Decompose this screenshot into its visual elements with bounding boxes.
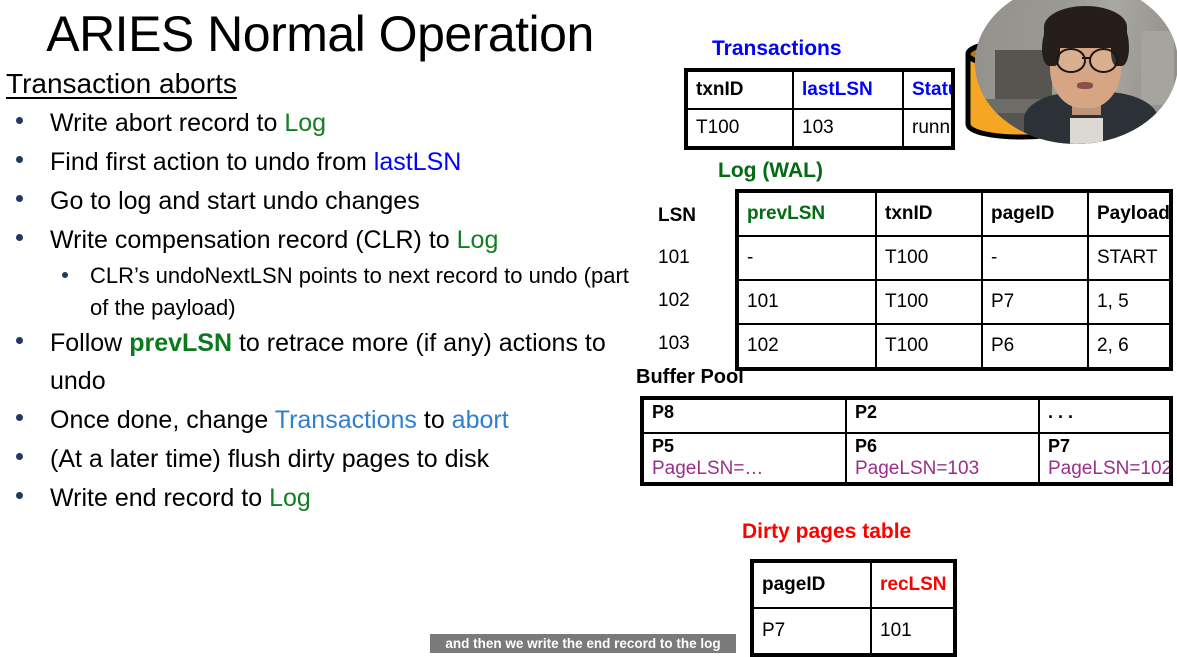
log-column-header: prevLSN <box>737 191 876 236</box>
bullet-dot-icon <box>16 195 23 202</box>
lsn-value: 101 <box>658 236 728 279</box>
log-header-row: prevLSNtxnIDpageIDPayload <box>737 191 1171 236</box>
buffer-pool-table: P8P2. . .P5PageLSN=…P6PageLSN=103P7PageL… <box>640 396 1173 486</box>
bullet-text-run: Write end record to <box>50 484 269 512</box>
bullet-dot-icon <box>16 492 23 499</box>
buffer-pool-page-id: P5 <box>652 436 674 456</box>
bullet-text-run: (At a later time) flush dirty pages to d… <box>50 445 489 473</box>
buffer-pool-row: P5PageLSN=…P6PageLSN=103P7PageLSN=102 <box>642 433 1171 484</box>
transactions-cell: T100 <box>686 109 793 148</box>
bullet-text-run-emphasis: Transactions <box>275 406 417 434</box>
transactions-cell: 103 <box>793 109 903 148</box>
transactions-cell: running <box>903 109 953 148</box>
lsn-label-column: LSN101102103 <box>658 196 728 365</box>
bullet-item: Find first action to undo from lastLSN <box>6 143 636 181</box>
buffer-pool-page-lsn: PageLSN=103 <box>855 458 1030 480</box>
log-cell: P6 <box>982 324 1088 369</box>
bullet-list: Write abort record to LogFind first acti… <box>6 104 636 518</box>
bullet-text-run-emphasis: abort <box>452 406 509 434</box>
table-row: T100103running <box>686 109 953 148</box>
bullet-text-run: Write abort record to <box>50 109 284 137</box>
webcam-overlay[interactable] <box>975 0 1177 144</box>
transactions-column-header: lastLSN <box>793 70 903 109</box>
log-table-label: Log (WAL) <box>718 159 823 183</box>
bullet-text-run: Once done, change <box>50 406 275 434</box>
bullet-dot-icon <box>16 453 23 460</box>
buffer-pool-page-id: P6 <box>855 436 877 456</box>
table-row: P7101 <box>752 608 955 655</box>
bullet-item: Write compensation record (CLR) to Log <box>6 221 636 259</box>
transactions-header-row: txnIDlastLSNStatus <box>686 70 953 109</box>
log-cell: 102 <box>737 324 876 369</box>
person-shirt <box>1070 118 1102 144</box>
log-cell: - <box>737 236 876 280</box>
transactions-column-header: txnID <box>686 70 793 109</box>
bullet-dot-icon <box>16 117 23 124</box>
bullet-text-run-emphasis: Log <box>457 226 499 254</box>
buffer-pool-label: Buffer Pool <box>636 366 744 389</box>
bullet-text-run-emphasis: prevLSN <box>129 329 232 357</box>
log-column-header: pageID <box>982 191 1088 236</box>
sub-bullet-item: CLR’s undoNextLSN points to next record … <box>50 260 636 324</box>
sub-bullet-list: CLR’s undoNextLSN points to next record … <box>6 260 636 324</box>
lsn-value: 102 <box>658 279 728 322</box>
sub-bullet-dot-icon <box>62 272 68 278</box>
dirty-pages-column-header: recLSN <box>871 561 955 608</box>
eyeglasses-left-lens <box>1056 48 1085 73</box>
log-table: prevLSNtxnIDpageIDPayload-T100-START101T… <box>735 189 1173 371</box>
bullet-item: (At a later time) flush dirty pages to d… <box>6 440 636 478</box>
bullet-text-run: CLR’s undoNextLSN points to next record … <box>90 263 629 320</box>
section-subheading: Transaction aborts <box>6 68 237 100</box>
bullet-item: Once done, change Transactions to abort <box>6 401 636 439</box>
dirty-pages-table-label: Dirty pages table <box>742 520 911 544</box>
bullet-text-run-emphasis: lastLSN <box>374 148 462 176</box>
bullet-text-run: Write compensation record (CLR) to <box>50 226 457 254</box>
bullet-item: Write abort record to Log <box>6 104 636 142</box>
bullet-text-run-emphasis: Log <box>269 484 311 512</box>
log-cell: T100 <box>876 324 982 369</box>
bullet-dot-icon <box>16 234 23 241</box>
dirty-pages-cell: 101 <box>871 608 955 655</box>
buffer-pool-row: P8P2. . . <box>642 398 1171 433</box>
table-row: 102T100P62, 6 <box>737 324 1171 369</box>
log-cell: T100 <box>876 236 982 280</box>
buffer-pool-page-id: . . . <box>1048 402 1073 422</box>
bullet-item: Go to log and start undo changes <box>6 182 636 220</box>
slide-canvas: ARIES Normal Operation Transaction abort… <box>0 0 1177 651</box>
webcam-bg-panel-right <box>1141 31 1173 106</box>
buffer-pool-frame: . . . <box>1039 398 1171 433</box>
buffer-pool-frame: P8 <box>642 398 846 433</box>
eyeglasses-bridge <box>1082 57 1090 59</box>
buffer-pool-frame: P5PageLSN=… <box>642 433 846 484</box>
buffer-pool-frame: P6PageLSN=103 <box>846 433 1039 484</box>
lsn-value: 103 <box>658 322 728 365</box>
log-cell: 1, 5 <box>1088 280 1171 324</box>
person-mouth <box>1077 82 1093 88</box>
buffer-pool-page-lsn: PageLSN=102 <box>1048 458 1161 480</box>
bullet-dot-icon <box>16 337 23 344</box>
buffer-pool-frame: P2 <box>846 398 1039 433</box>
dirty-pages-cell: P7 <box>752 608 871 655</box>
bullet-dot-icon <box>16 414 23 421</box>
transactions-table-label: Transactions <box>712 37 842 61</box>
bullet-dot-icon <box>16 156 23 163</box>
log-cell: P7 <box>982 280 1088 324</box>
buffer-pool-frame: P7PageLSN=102 <box>1039 433 1171 484</box>
bullet-text-run: to <box>417 406 452 434</box>
bullet-text-run-emphasis: Log <box>284 109 326 137</box>
log-column-header: txnID <box>876 191 982 236</box>
bullet-item: Follow prevLSN to retrace more (if any) … <box>6 324 636 400</box>
dirty-pages-column-header: pageID <box>752 561 871 608</box>
transactions-column-header: Status <box>903 70 953 109</box>
table-row: 101T100P71, 5 <box>737 280 1171 324</box>
bullet-text-run: Go to log and start undo changes <box>50 187 420 215</box>
bullet-text-run: Find first action to undo from <box>50 148 374 176</box>
dirty-pages-table: pageIDrecLSNP7101 <box>750 559 957 657</box>
log-cell: 2, 6 <box>1088 324 1171 369</box>
table-row: -T100-START <box>737 236 1171 280</box>
buffer-pool-page-lsn: PageLSN=… <box>652 458 837 480</box>
dirty-pages-header-row: pageIDrecLSN <box>752 561 955 608</box>
log-cell: - <box>982 236 1088 280</box>
lsn-column-header: LSN <box>658 196 728 236</box>
log-column-header: Payload <box>1088 191 1171 236</box>
page-title: ARIES Normal Operation <box>0 8 640 61</box>
transactions-table: txnIDlastLSNStatusT100103running <box>684 68 955 150</box>
log-cell: 101 <box>737 280 876 324</box>
buffer-pool-page-id: P8 <box>652 402 674 422</box>
buffer-pool-page-id: P7 <box>1048 436 1070 456</box>
log-cell: START <box>1088 236 1171 280</box>
bullet-text-run: Follow <box>50 329 129 357</box>
bullet-item: Write end record to Log <box>6 479 636 517</box>
caption-subtitle: and then we write the end record to the … <box>430 634 736 653</box>
buffer-pool-page-id: P2 <box>855 402 877 422</box>
log-cell: T100 <box>876 280 982 324</box>
